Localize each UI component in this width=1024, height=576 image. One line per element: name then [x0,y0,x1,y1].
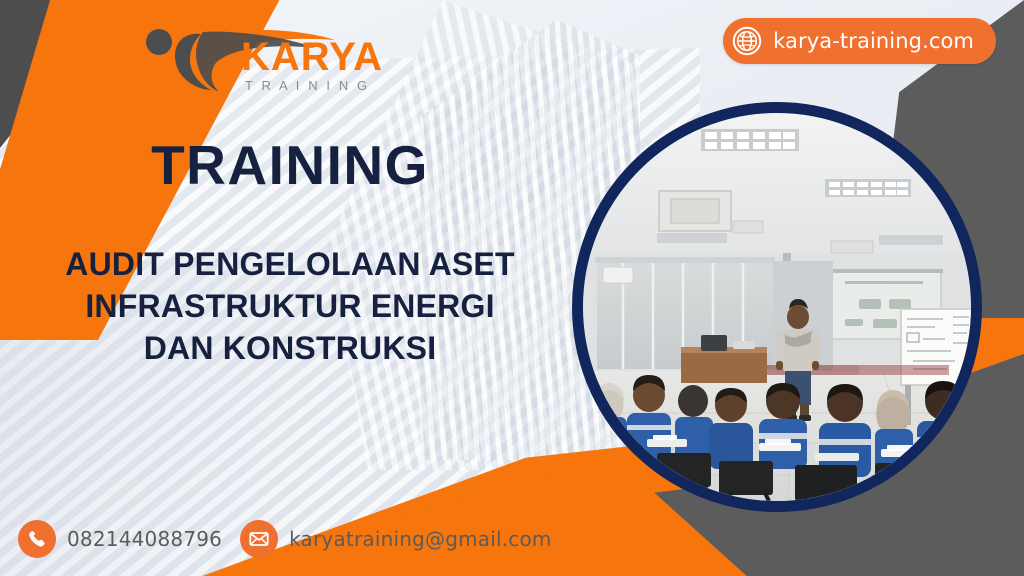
phone-number-label: 082144088796 [67,527,222,551]
headline-block: TRAINING AUDIT PENGELOLAAN ASET INFRASTR… [0,138,580,370]
contact-email[interactable]: karyatraining@gmail.com [240,520,552,558]
course-title-line-2: INFRASTRUKTUR ENERGI [0,285,580,327]
karya-logo: KARYA T R A I N I N G [135,22,385,102]
contact-phone[interactable]: 082144088796 [18,520,222,558]
training-poster: KARYA T R A I N I N G karya-training.com… [0,0,1024,576]
phone-icon [18,520,56,558]
logo-dot-icon [146,29,172,55]
website-badge[interactable]: karya-training.com [723,18,996,64]
classroom-photo [583,113,971,501]
logo-wordmark: KARYA [241,35,383,79]
classroom-photo-ring [572,102,982,512]
envelope-icon [240,520,278,558]
logo-tagline: T R A I N I N G [245,78,370,93]
classroom-photo-illustration [583,113,971,501]
email-address-label: karyatraining@gmail.com [289,527,552,551]
website-url-label: karya-training.com [773,29,974,53]
course-title: AUDIT PENGELOLAAN ASET INFRASTRUKTUR ENE… [0,243,580,370]
course-title-line-1: AUDIT PENGELOLAAN ASET [0,243,580,285]
globe-icon [732,26,762,56]
course-title-line-3: DAN KONSTRUKSI [0,327,580,369]
contact-bar: 082144088796 karyatraining@gmail.com [18,520,552,558]
page-title-kicker: TRAINING [0,138,580,193]
